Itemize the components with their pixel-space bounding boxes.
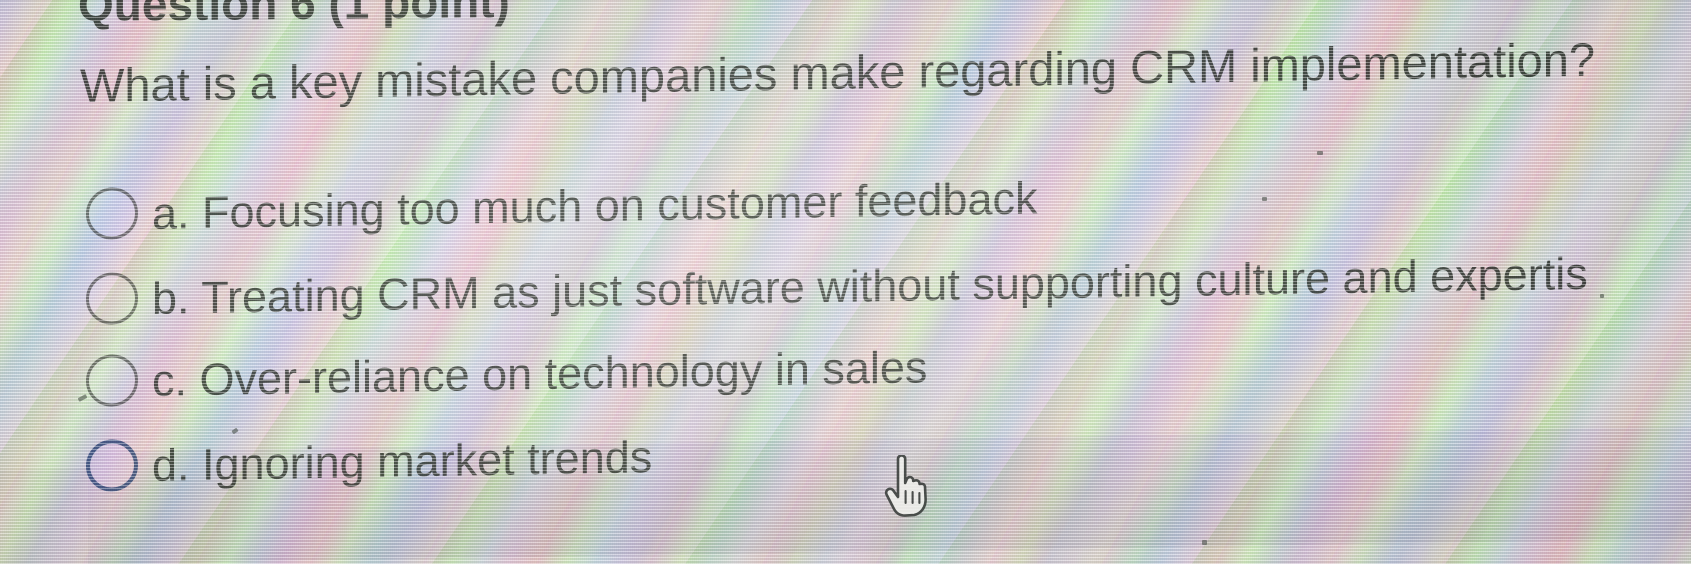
dust-speck: [1262, 197, 1267, 201]
pointing-hand-cursor-icon: [884, 455, 928, 517]
screenshot-photo-of-screen: Question 6 (1 point) What is a key mista…: [0, 0, 1691, 564]
dust-speck: [1600, 294, 1604, 298]
dust-speck: [1468, 277, 1472, 281]
dust-speck: [1202, 540, 1207, 545]
dust-speck: [1317, 151, 1323, 155]
moire-vertical-bands: [0, 0, 1691, 564]
